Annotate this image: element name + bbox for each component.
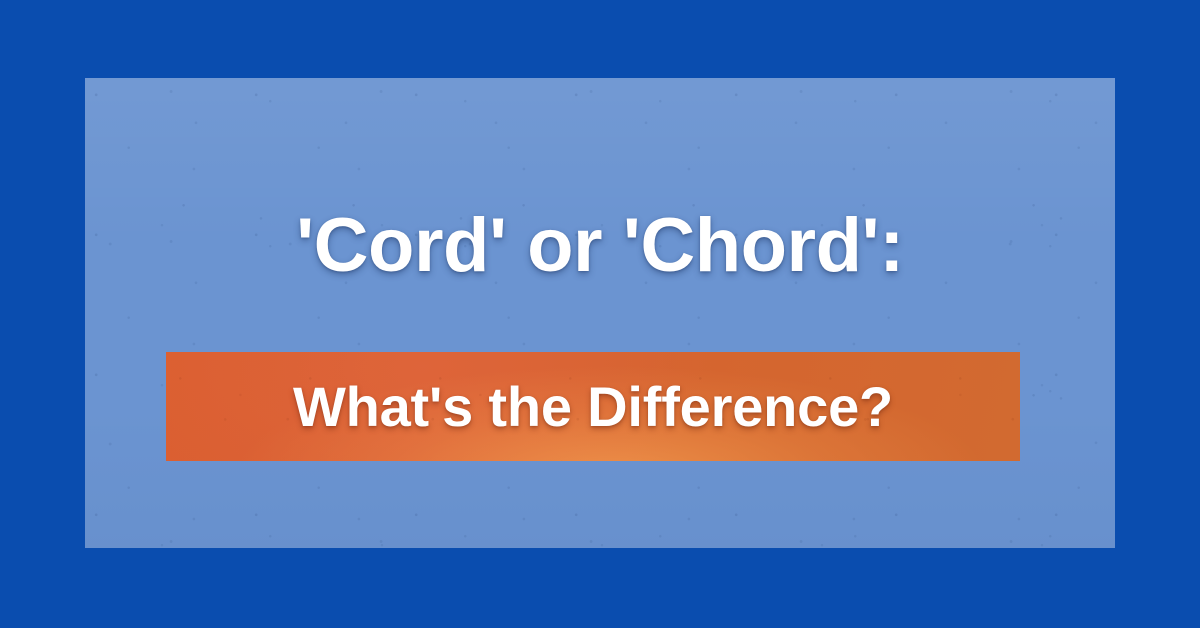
panel-noise-texture: [85, 78, 1115, 548]
subtitle-band: What's the Difference?: [166, 352, 1020, 461]
panel-sheen-overlay: [85, 78, 1115, 548]
subtitle-text: What's the Difference?: [293, 379, 893, 435]
social-card-canvas: 'Cord' or 'Chord': What's the Difference…: [0, 0, 1200, 628]
inner-content-panel: [85, 78, 1115, 548]
page-title: 'Cord' or 'Chord':: [0, 206, 1200, 287]
